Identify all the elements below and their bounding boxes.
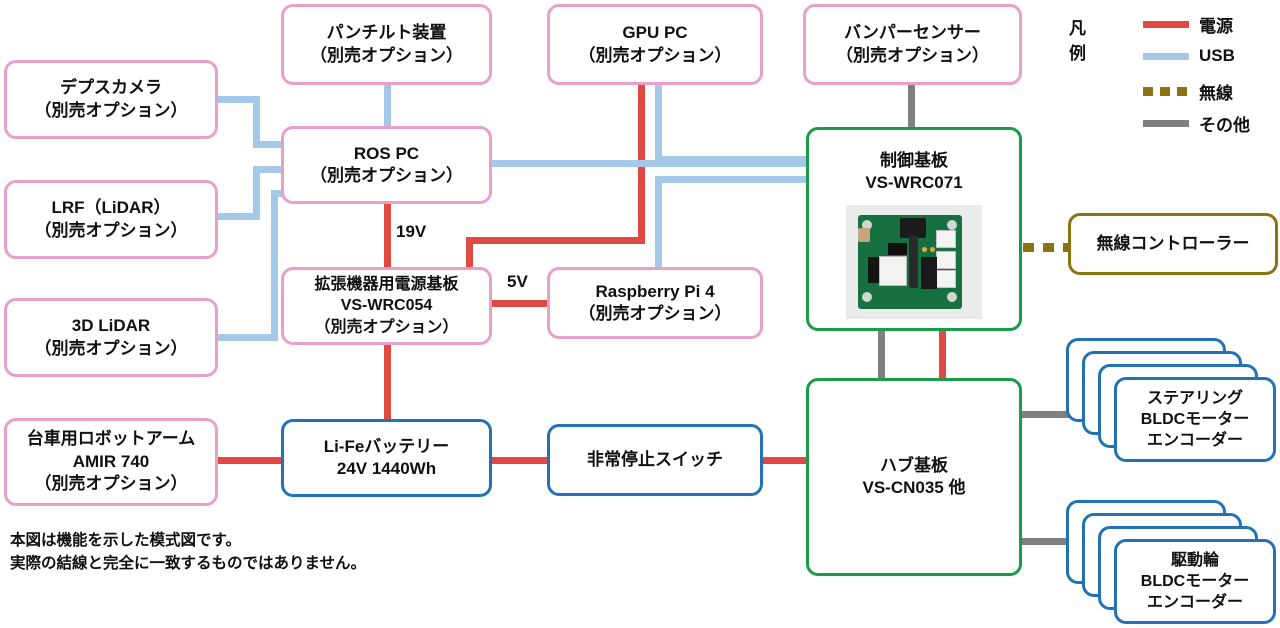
node-steering-motor-stack[interactable]: ステアリング BLDCモーター エンコーダー — [1066, 338, 1278, 462]
node-battery[interactable]: Li-Feバッテリー 24V 1440Wh — [281, 419, 492, 497]
system-block-diagram: デプスカメラ （別売オプション） LRF（LiDAR） （別売オプション） 3D… — [0, 0, 1280, 628]
legend-label-power: 電源 — [1199, 12, 1233, 37]
node-bumper-sensor[interactable]: バンパーセンサー （別売オプション） — [803, 4, 1022, 85]
pcb-connector-r3 — [936, 270, 956, 288]
legend-swatch-wireless — [1143, 87, 1189, 96]
pcb-pin-header — [888, 243, 907, 255]
label-19v: 19V — [394, 222, 428, 242]
legend-swatch-other — [1143, 120, 1189, 127]
node-3d-lidar[interactable]: 3D LiDAR （別売オプション） — [4, 298, 218, 377]
wire-usb-rospc-controlboard — [491, 160, 813, 167]
wire-usb-lrf-v — [253, 166, 260, 220]
wire-other-controlboard-hub — [878, 330, 885, 378]
wire-other-hub-drive — [1022, 538, 1072, 545]
wire-power-powerboard-raspi — [491, 300, 548, 307]
drive-card-front[interactable]: 駆動輪 BLDCモーター エンコーダー — [1114, 539, 1276, 624]
node-power-board[interactable]: 拡張機器用電源基板 VS-WRC054 （別売オプション） — [281, 267, 492, 345]
node-hub-board[interactable]: ハブ基板 VS-CN035 他 — [806, 378, 1022, 576]
wire-power-rospc-powerboard — [384, 203, 391, 268]
pcb-mount-hole-br — [947, 292, 957, 302]
pcb-ic-tall — [909, 236, 918, 288]
legend-item-wireless: 無線 — [1143, 79, 1233, 104]
pcb-terminal-block — [921, 257, 937, 289]
wire-power-battery-estop — [491, 457, 549, 464]
wire-other-bumper-controlboard — [908, 85, 915, 127]
legend-label-usb: USB — [1199, 46, 1235, 66]
wire-power-robotarm-battery — [216, 457, 281, 464]
node-raspberry-pi[interactable]: Raspberry Pi 4 （別売オプション） — [547, 267, 763, 339]
pcb-mount-hole-tr — [947, 220, 957, 230]
wire-usb-raspi-h — [655, 176, 813, 183]
legend-swatch-power — [1143, 21, 1189, 28]
legend-item-usb: USB — [1143, 46, 1235, 66]
wire-wireless-controlboard-controller — [1023, 243, 1070, 252]
legend-swatch-usb — [1143, 53, 1189, 60]
wire-usb-pantilt — [384, 85, 391, 130]
node-wireless-controller[interactable]: 無線コントローラー — [1068, 213, 1278, 275]
pcb-header-black-top — [900, 218, 926, 238]
wire-power-powerboard-battery — [384, 345, 391, 420]
node-drive-motor-stack[interactable]: 駆動輪 BLDCモーター エンコーダー — [1066, 500, 1278, 624]
wire-usb-gpupc-v — [655, 85, 662, 163]
node-robot-arm[interactable]: 台車用ロボットアーム AMIR 740 （別売オプション） — [4, 418, 218, 506]
node-ros-pc[interactable]: ROS PC （別売オプション） — [281, 126, 492, 204]
node-gpu-pc[interactable]: GPU PC （別売オプション） — [547, 4, 763, 85]
pcb-usb-connector — [858, 228, 870, 242]
legend-item-other: その他 — [1143, 111, 1250, 136]
label-5v: 5V — [505, 272, 530, 292]
wire-usb-raspi-v — [655, 176, 662, 269]
wire-power-estop-hub — [763, 457, 811, 464]
legend-title: 凡例 — [1069, 14, 1086, 64]
pcb-usb-a-port — [879, 256, 907, 286]
legend-label-wireless: 無線 — [1199, 79, 1233, 104]
node-estop-switch[interactable]: 非常停止スイッチ — [547, 424, 763, 496]
wire-other-hub-steering — [1022, 411, 1072, 418]
pcb-connector-r1 — [936, 230, 956, 248]
diagram-footnote: 本図は機能を示した模式図です。 実際の結線と完全に一致するものではありません。 — [10, 529, 366, 576]
node-lrf-lidar[interactable]: LRF（LiDAR） （別売オプション） — [4, 180, 218, 259]
wire-power-controlboard-hub — [939, 330, 946, 378]
node-pan-tilt[interactable]: パンチルト装置 （別売オプション） — [281, 4, 492, 85]
steering-card-front[interactable]: ステアリング BLDCモーター エンコーダー — [1114, 377, 1276, 462]
wire-power-gpupc-h — [466, 237, 645, 244]
pcb-mount-hole-bl — [862, 292, 872, 302]
pcb-connector-r2 — [936, 251, 956, 269]
wire-power-gpupc-drop — [466, 237, 473, 269]
wire-usb-lidar3d-h1 — [218, 334, 278, 341]
node-depth-camera[interactable]: デプスカメラ （別売オプション） — [4, 60, 218, 139]
legend-label-other: その他 — [1199, 111, 1250, 136]
control-board-photo — [846, 205, 982, 319]
legend-item-power: 電源 — [1143, 12, 1233, 37]
wire-usb-lidar3d-v — [271, 190, 278, 341]
